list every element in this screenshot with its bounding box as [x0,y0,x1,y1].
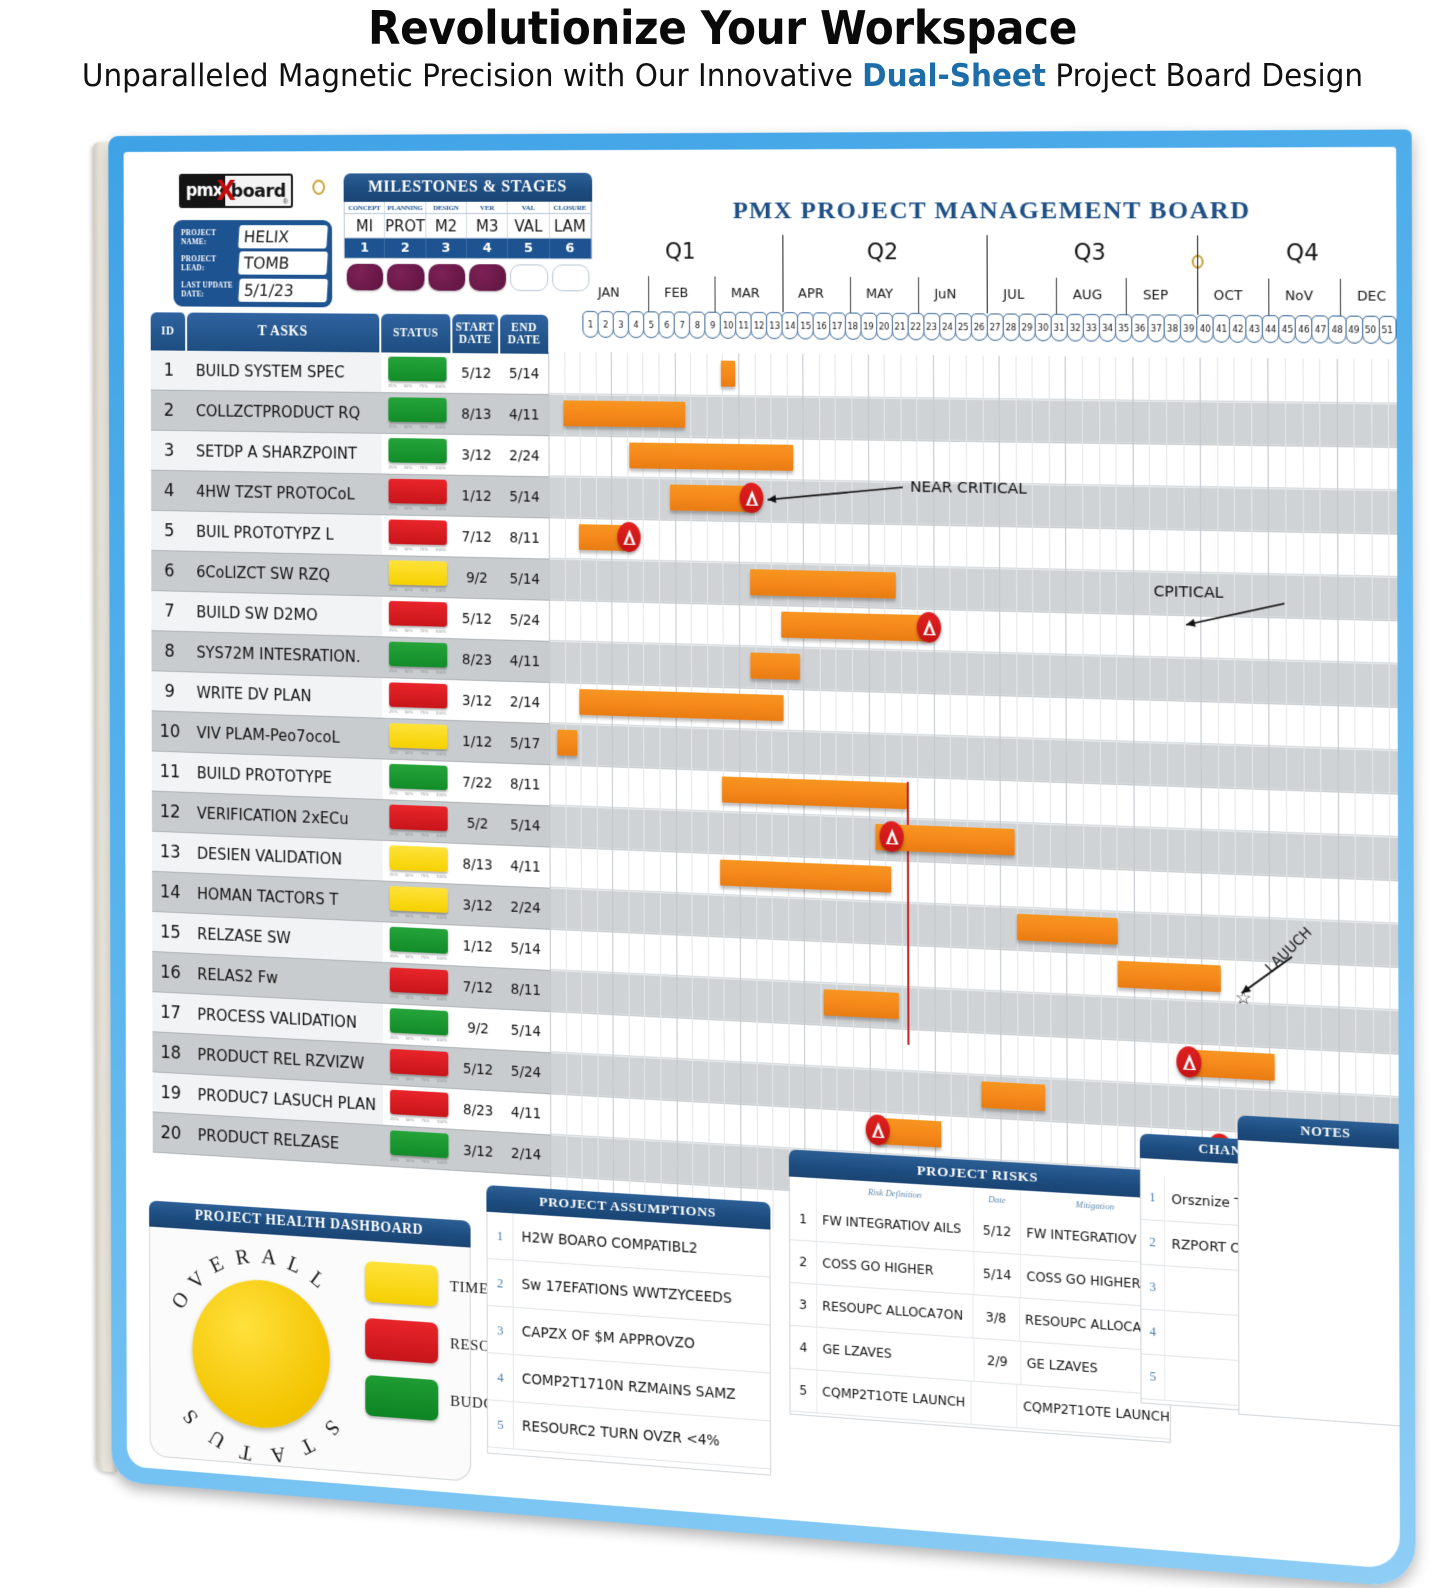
task-end-date[interactable]: 5/14 [501,477,549,519]
gantt-bar[interactable] [563,400,685,427]
task-id: 3 [151,431,187,472]
gantt-gridline-h [549,804,1400,837]
progress-tick: 50% [405,791,413,796]
task-name[interactable]: SETDP A SHARZPOINT [187,431,381,474]
hanging-hole-icon [312,180,325,195]
gantt-bar[interactable] [579,524,625,551]
progress-tick: 75% [420,506,428,511]
task-start-date[interactable]: 5/12 [454,1048,502,1092]
risk-mitigation[interactable]: COSS GO HIGHER [1026,1269,1140,1291]
gantt-bar[interactable] [722,776,907,809]
status-magnet-red[interactable] [390,1089,448,1117]
milestone-code-2[interactable]: PROT [385,214,426,237]
status-magnet-yellow[interactable] [389,723,447,749]
timeline-quarter-Q2: Q2 [867,239,898,264]
gantt-bar[interactable] [557,730,577,756]
task-start-date[interactable]: 8/23 [454,1089,502,1133]
timeline-month-AUG: AUG [1073,286,1102,302]
timeline-week-25[interactable]: 25 [955,313,972,341]
last-update-value[interactable]: 5/1/23 [238,278,328,302]
project-lead-row: PROJECT LEAD: TOMB [178,252,327,276]
gantt-gridline-v [1149,357,1152,1252]
task-end-date[interactable]: 4/11 [500,394,548,436]
task-start-date[interactable]: 5/12 [452,353,500,394]
task-end-date[interactable]: 5/14 [501,805,549,848]
timeline-month-JAN: JAN [598,284,620,300]
milestone-code-3[interactable]: M2 [426,214,467,238]
timeline-week-42[interactable]: 42 [1229,315,1247,343]
task-end-date[interactable]: 8/11 [501,518,549,560]
risk-definition-cell: GE LZAVES [817,1328,974,1381]
risk-definition[interactable]: GE LZAVES [823,1342,892,1362]
task-name[interactable]: PRODUCT RELZASE [189,1115,383,1167]
notes-body[interactable] [1238,1140,1400,1428]
task-id: 20 [153,1112,189,1154]
timeline-week-45[interactable]: 45 [1279,315,1297,343]
risk-date-cell [972,1382,1018,1428]
task-id: 9 [152,671,188,712]
milestone-code-1[interactable]: MI [345,214,386,237]
task-end-date[interactable]: 5/14 [500,353,548,395]
warning-triangle-icon[interactable] [740,483,764,514]
overall-arc-char: L [305,1265,329,1293]
change-log-number: 3 [1141,1265,1165,1310]
status-magnet-green[interactable] [389,926,447,953]
task-name[interactable]: 4HW TZST PROTOCoL [187,471,381,515]
change-log-date-cell [1318,1276,1358,1323]
task-start-date[interactable]: 8/13 [453,394,501,436]
table-row: 1BUILD SYSTEM SPEC25%50%75%100%5/125/14 [151,350,1400,404]
timeline-week-21[interactable]: 21 [891,313,908,340]
progress-scale: 25%50%75%100% [390,1157,447,1166]
progress-scale: 25%50%75%100% [390,872,447,880]
warning-triangle-icon[interactable] [917,612,941,643]
task-end-date[interactable]: 2/24 [500,435,548,477]
timeline-week-41[interactable]: 41 [1213,315,1231,343]
risk-date[interactable]: 5/12 [983,1223,1012,1240]
board-blue-frame: pmx X board ® PROJECT NAME: HELIX PROJEC… [108,129,1415,1588]
gantt-bar[interactable] [1131,1175,1240,1208]
timeline-week-9[interactable]: 9 [705,312,722,339]
task-end-date[interactable]: 5/17 [501,723,549,766]
risk-date[interactable]: 3/8 [986,1310,1007,1326]
gantt-bar[interactable] [1118,961,1221,992]
timeline-week-12[interactable]: 12 [751,312,768,339]
status-magnet-red[interactable] [388,600,446,626]
progress-tick: 25% [390,1075,398,1081]
change-log-number: 1 [1141,1175,1165,1220]
gantt-gridline-v [1132,357,1135,1251]
status-magnet-red[interactable] [388,478,446,504]
timeline-week-52[interactable]: 52 [1395,316,1400,344]
task-name[interactable]: HOMAN TACTORS T [188,873,382,922]
gantt-bar[interactable] [824,989,899,1019]
risk-mitigation[interactable]: RESOUPC ALLOCA7ON [1025,1312,1170,1337]
task-id: 12 [152,792,188,834]
milestone-magnet-2[interactable] [387,264,424,291]
status-magnet-green[interactable] [389,1008,447,1035]
task-name[interactable]: RELAS2 Fw [189,954,383,1004]
assumption-text[interactable]: Sw 17EFATIONS WWTZYCEEDS [514,1275,770,1309]
progress-scale: 25%50%75%100% [390,994,447,1002]
timeline-week-31[interactable]: 31 [1051,314,1068,342]
headline-sub-before: Unparalleled Magnetic Precision with Our… [82,58,862,94]
status-magnet-red[interactable] [389,1048,447,1076]
task-start-date[interactable]: 3/12 [453,680,501,722]
timeline-week-40[interactable]: 40 [1196,315,1214,343]
logo-pmx-text: pmx [181,176,225,206]
timeline-week-26[interactable]: 26 [971,313,988,341]
progress-tick: 75% [419,424,427,429]
legend-label: BUDGET [450,1393,514,1415]
task-name[interactable]: COLLZCTPRODUCT RQ [187,391,381,434]
assumption-text[interactable]: CAPZX OF $M APPROVZO [514,1323,770,1358]
gantt-bar[interactable] [1005,1167,1091,1199]
progress-scale: 25%50%75%100% [388,464,445,470]
legend-magnet-green[interactable] [365,1375,438,1421]
timeline-week-3[interactable]: 3 [613,311,629,338]
task-start-date[interactable]: 3/12 [454,1130,502,1174]
status-magnet-green[interactable] [388,397,446,422]
status-magnet-yellow[interactable] [388,560,446,586]
overall-arc-char: O [167,1287,195,1314]
timeline-week-43[interactable]: 43 [1246,315,1264,343]
task-status-cell: 25%50%75%100% [382,597,453,640]
gantt-bar[interactable] [720,860,891,893]
task-id: 6 [151,551,187,592]
risk-date[interactable]: 2/9 [987,1353,1008,1369]
task-name[interactable]: BUIL PROTOTYPZ L [188,512,382,556]
progress-tick: 50% [405,709,413,714]
gantt-bar[interactable] [781,612,925,642]
timeline-week-13[interactable]: 13 [766,312,783,339]
change-log-panel: CHANGE LOG Date 1Orsznize Tam Bid2RZPORT… [1140,1133,1360,1435]
risk-mitigation[interactable]: CQMP2T1OTE LAUNCH [1023,1399,1170,1425]
headline-primary: Revolutionize Your Workspace [58,4,1387,52]
timeline-week-2[interactable]: 2 [598,311,614,338]
task-end-date[interactable]: 4/11 [501,641,549,683]
milestone-magnet-5[interactable] [510,264,547,291]
timeline-week-48[interactable]: 48 [1328,315,1346,343]
milestone-magnet-6[interactable] [552,264,590,291]
risk-number: 5 [799,1383,807,1398]
task-start-date[interactable]: 7/12 [454,966,502,1009]
status-magnet-green[interactable] [388,641,446,667]
task-start-date[interactable]: 8/23 [453,639,501,681]
milestone-code-6[interactable]: LAM [550,214,592,238]
task-start-date[interactable]: 3/12 [454,885,502,928]
risk-mitigation[interactable]: GE LZAVES [1027,1356,1098,1376]
gantt-gridline-v [1166,357,1169,1252]
status-magnet-red[interactable] [388,519,446,545]
assumption-text[interactable]: COMP2T1710N RZMAINS SAMZ [514,1370,770,1405]
change-log-row: 2RZPORT OUT PDR [1141,1220,1358,1279]
legend-magnet-red[interactable] [365,1318,438,1364]
task-status-cell: 25%50%75%100% [382,637,453,680]
task-name[interactable]: PRODUCT REL RZVIZW [189,1034,383,1085]
gantt-bar[interactable] [981,1081,1045,1111]
timeline-week-50[interactable]: 50 [1362,316,1380,344]
gantt-gridline-v [1234,358,1237,1257]
health-dashboard-body: OVERALL STATUS TIMELINERESOURCEBUDGET [149,1227,471,1482]
milestone-stage-row: CONCEPTPLANNINGDESIGNVERVALCLOSURE [344,202,593,214]
task-end-date[interactable]: 4/11 [501,846,549,889]
task-name[interactable]: VIV PLAM-Peo7ocoL [188,713,382,760]
risk-number-cell: 4 [790,1326,817,1370]
task-end-date[interactable]: 5/14 [501,559,549,601]
gantt-bar[interactable] [876,1118,941,1148]
status-magnet-yellow[interactable] [389,885,447,912]
progress-tick: 100% [436,669,447,674]
progress-tick: 75% [421,1159,429,1165]
timeline-week-20[interactable]: 20 [876,313,893,340]
progress-tick: 100% [435,506,446,511]
timeline-week-38[interactable]: 38 [1164,314,1181,342]
assumption-text[interactable]: RESOURC2 TURN OVZR <4% [514,1417,770,1453]
timeline-week-47[interactable]: 47 [1312,315,1330,343]
overall-status-magnet[interactable] [192,1276,330,1433]
gantt-bar[interactable] [629,442,793,470]
task-start-date[interactable]: 5/12 [453,598,501,640]
milestone-stage-4: VER [467,202,508,213]
timeline-week-8[interactable]: 8 [689,312,705,339]
timeline-week-4[interactable]: 4 [628,311,644,338]
gantt-bar[interactable] [750,569,896,598]
gantt-bar[interactable] [875,824,1014,856]
milestone-code-4[interactable]: M3 [467,214,508,238]
timeline-week-33[interactable]: 33 [1083,314,1100,342]
task-name[interactable]: BUILD PROTOTYPE [188,753,382,800]
gantt-row-band [549,558,1400,620]
gantt-bar[interactable] [750,652,800,679]
column-header-start-date: START DATE [452,314,500,353]
status-magnet-green[interactable] [388,437,446,462]
status-magnet-red[interactable] [389,682,447,708]
change-log-text[interactable]: RZPORT OUT PDR [1171,1236,1292,1260]
warning-triangle-icon[interactable] [880,821,904,852]
timeline-week-46[interactable]: 46 [1295,315,1313,343]
timeline-week-32[interactable]: 32 [1067,314,1084,342]
milestone-stage-3: DESIGN [426,202,467,213]
timeline-week-18[interactable]: 18 [844,313,861,340]
timeline-month-MAR: MAR [731,285,760,301]
task-start-date[interactable]: 3/12 [453,435,501,477]
warning-triangle-icon[interactable] [1207,1133,1232,1166]
progress-tick: 50% [405,995,413,1001]
gantt-gridline-v [900,355,903,1236]
risk-date-cell: 2/9 [975,1339,1022,1385]
task-start-date[interactable]: 1/12 [453,721,501,764]
risk-definition[interactable]: CQMP2T1OTE LAUNCH [822,1385,965,1410]
progress-tick: 75% [420,587,428,592]
notes-panel: NOTES [1238,1115,1400,1441]
timeline-week-24[interactable]: 24 [939,313,956,341]
progress-tick: 50% [405,750,413,755]
status-magnet-yellow[interactable] [389,845,447,872]
progress-tick: 25% [389,627,397,632]
task-name[interactable]: SYS72M INTESRATION. [188,632,382,678]
timeline-week-1[interactable]: 1 [582,311,598,338]
task-name[interactable]: RELZASE SW [189,914,383,963]
task-status-cell: 25%50%75%100% [383,841,454,885]
task-end-date[interactable]: 2/14 [501,682,549,725]
task-gantt-cell [550,930,1400,1012]
task-start-date[interactable]: 9/2 [454,1007,502,1050]
progress-tick: 25% [390,1116,398,1122]
warning-triangle-icon[interactable] [617,522,640,552]
launch-star-icon[interactable]: ☆ [1235,989,1252,1008]
project-name-value[interactable]: HELIX [238,225,328,249]
timeline-week-7[interactable]: 7 [674,311,690,338]
timeline-week-27[interactable]: 27 [987,313,1004,341]
task-name[interactable]: BUILD SYSTEM SPEC [187,351,381,393]
timeline-week-19[interactable]: 19 [860,313,877,340]
risks-col-definition: Risk Definition [817,1178,974,1209]
timeline-week-44[interactable]: 44 [1262,315,1280,343]
timeline-week-39[interactable]: 39 [1180,315,1197,343]
status-magnet-red[interactable] [389,967,447,994]
risk-definition[interactable]: COSS GO HIGHER [822,1256,933,1278]
task-name[interactable]: WRITE DV PLAN [188,672,382,718]
status-magnet-green[interactable] [390,1130,448,1158]
task-start-date[interactable]: 7/22 [453,762,501,805]
gantt-gridline-v [786,354,789,1229]
timeline-week-16[interactable]: 16 [813,312,830,339]
warning-triangle-icon[interactable] [866,1114,890,1146]
gantt-gridline-h [550,845,1400,880]
overall-arc-char: T [238,1438,254,1466]
task-start-date[interactable]: 8/13 [454,844,502,887]
timeline-months: JANFEBMARAPRMAYJuNJULAUGSEPOCTNoVDEC [582,274,1400,316]
risk-definition[interactable]: RESOUPC ALLOCA7ON [822,1299,963,1323]
risk-date[interactable]: 5/14 [983,1266,1012,1283]
task-name[interactable]: BUILD SW D2MO [188,592,382,637]
task-name[interactable]: 6CoLlZCT SW RZQ [188,552,382,597]
month-divider-7 [1056,278,1057,314]
status-magnet-green[interactable] [389,763,447,790]
timeline-week-34[interactable]: 34 [1099,314,1116,342]
timeline-week-11[interactable]: 11 [735,312,752,339]
task-start-date[interactable]: 1/12 [453,476,501,518]
progress-scale: 25%50%75%100% [390,1116,447,1124]
progress-tick: 25% [389,831,397,836]
task-end-date[interactable]: 5/24 [502,1051,550,1095]
gantt-bar[interactable] [579,689,783,721]
risks-col-date: Date [974,1188,1021,1212]
gantt-bar[interactable] [670,484,747,511]
task-name[interactable]: VERIFICATION 2xECu [188,793,382,841]
timeline-week-35[interactable]: 35 [1115,314,1132,342]
task-start-date[interactable]: 7/12 [453,517,501,559]
timeline-week-14[interactable]: 14 [782,312,799,339]
gantt-gridline-v [1251,358,1254,1258]
warning-triangle-icon[interactable] [1176,1046,1201,1078]
risk-mitigation[interactable]: FW INTEGRATIOV AILS [1026,1226,1169,1250]
table-row: 66CoLlZCT SW RZQ25%50%75%100%9/25/14 [151,551,1400,622]
milestone-magnet-1[interactable] [347,264,384,291]
task-end-date[interactable]: 5/24 [501,600,549,642]
task-end-date[interactable]: 4/11 [502,1092,550,1136]
timeline-week-6[interactable]: 6 [659,311,675,338]
timeline-week-10[interactable]: 10 [720,312,737,339]
task-name[interactable]: DESIEN VALIDATION [188,833,382,881]
gantt-gridline-v [835,354,838,1231]
progress-tick: 25% [389,790,397,795]
timeline-week-36[interactable]: 36 [1131,314,1148,342]
milestone-code-5[interactable]: VAL [508,214,549,238]
timeline-week-30[interactable]: 30 [1034,314,1051,342]
timeline-week-51[interactable]: 51 [1378,316,1396,344]
task-end-date[interactable]: 5/14 [502,928,550,971]
timeline-week-5[interactable]: 5 [643,311,659,338]
hanging-hole-right-icon [1192,255,1204,269]
risk-definition-cell: FW INTEGRATIOV AILS [817,1199,974,1251]
gantt-bar[interactable] [721,361,735,387]
milestone-magnet-4[interactable] [469,264,506,291]
progress-tick: 75% [420,832,428,837]
timeline-week-28[interactable]: 28 [1002,313,1019,341]
gantt-gridline-v [1099,357,1102,1249]
task-name[interactable]: PRODUC7 LASUCH PLAN [189,1074,383,1125]
gantt-gridline-v [803,354,806,1230]
progress-tick: 50% [404,383,412,388]
change-log-date-cell [1318,1231,1358,1278]
gantt-gridline-v [1200,357,1203,1254]
task-gantt-cell [550,971,1400,1055]
progress-tick: 100% [436,751,447,756]
timeline-week-37[interactable]: 37 [1148,314,1165,342]
status-magnet-red[interactable] [389,804,447,831]
task-start-date[interactable]: 1/12 [454,925,502,968]
milestone-magnet-3[interactable] [428,264,465,291]
gantt-bar[interactable] [1017,914,1118,945]
risk-definition[interactable]: FW INTEGRATIOV AILS [822,1213,961,1236]
task-status-cell: 25%50%75%100% [382,800,453,844]
progress-tick: 100% [437,1078,448,1084]
project-lead-value[interactable]: TOMB [238,252,328,276]
list-item: 4COMP2T1710N RZMAINS SAMZ [488,1353,770,1421]
task-end-date[interactable]: 5/14 [502,1010,550,1054]
timeline-week-23[interactable]: 23 [923,313,940,340]
legend-magnet-yellow[interactable] [365,1261,438,1307]
gantt-row-band [550,1133,1400,1226]
timeline-header: Q1Q2Q3Q4 JANFEBMARAPRMAYJuNJULAUGSEPOCTN… [582,235,1400,355]
progress-tick: 75% [419,383,427,388]
timeline-week-49[interactable]: 49 [1345,316,1363,344]
task-end-date[interactable]: 8/11 [501,764,549,807]
change-log-text[interactable]: Orsznize Tam Bid [1171,1191,1288,1214]
gantt-bar[interactable] [1187,1049,1274,1080]
task-end-date[interactable]: 2/24 [502,887,550,930]
change-log-rows: 1Orsznize Tam Bid2RZPORT OUT PDR345 [1141,1175,1358,1415]
task-start-date[interactable]: 9/2 [453,557,501,599]
task-end-date[interactable]: 8/11 [502,969,550,1012]
timeline-quarters: Q1Q2Q3Q4 [582,235,1400,277]
progress-tick: 50% [404,587,412,592]
progress-tick: 100% [436,914,447,920]
task-end-date[interactable]: 2/14 [502,1133,550,1177]
task-start-date[interactable]: 5/2 [454,803,502,846]
timeline-week-22[interactable]: 22 [907,313,924,340]
timeline-week-15[interactable]: 15 [797,312,814,339]
timeline-week-17[interactable]: 17 [829,312,846,339]
list-item: 5RESOURC2 TURN OVZR <4% [488,1400,770,1469]
status-magnet-green[interactable] [388,356,446,381]
task-name[interactable]: PROCESS VALIDATION [189,994,383,1044]
health-legend-row: BUDGET [365,1375,564,1431]
assumption-text[interactable]: H2W BOARO COMPATIBL2 [513,1228,769,1261]
timeline-week-29[interactable]: 29 [1018,314,1035,342]
